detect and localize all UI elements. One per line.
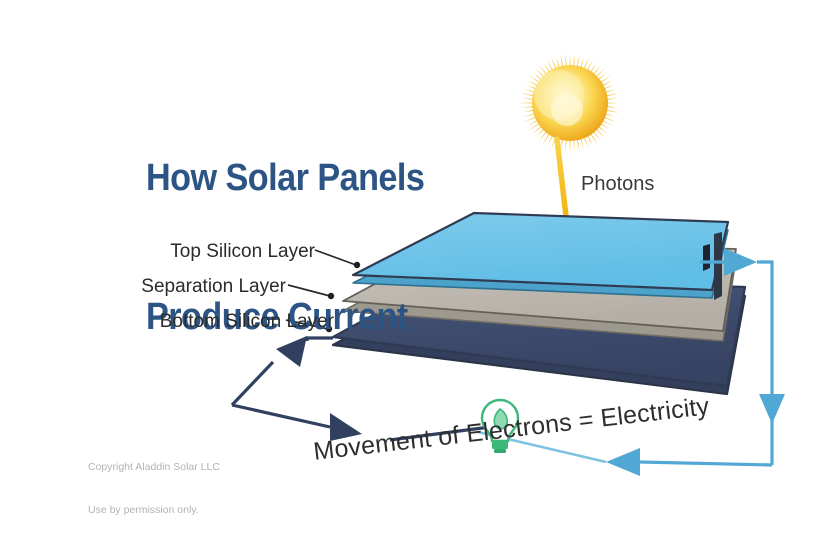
arrow-right-icon (724, 248, 757, 276)
label-photons: Photons (581, 173, 654, 195)
copyright-notice: Copyright Aladdin Solar LLC Use by permi… (88, 432, 220, 545)
solar-panel-diagram: How Solar Panels Produce Current Top Sil… (0, 0, 830, 552)
arrow-down-icon (759, 394, 785, 424)
copyright-line-2: Use by permission only. (88, 503, 220, 517)
arrow-left-icon (606, 448, 640, 476)
sun-icon (519, 53, 620, 154)
label-top-silicon-layer: Top Silicon Layer (10, 241, 315, 262)
copyright-line-1: Copyright Aladdin Solar LLC (88, 460, 220, 474)
page-title-line-1: How Solar Panels (146, 155, 443, 201)
label-bottom-silicon-layer: Bottom Silicon Layer (10, 311, 334, 332)
label-separation-layer: Separation Layer (10, 276, 286, 297)
